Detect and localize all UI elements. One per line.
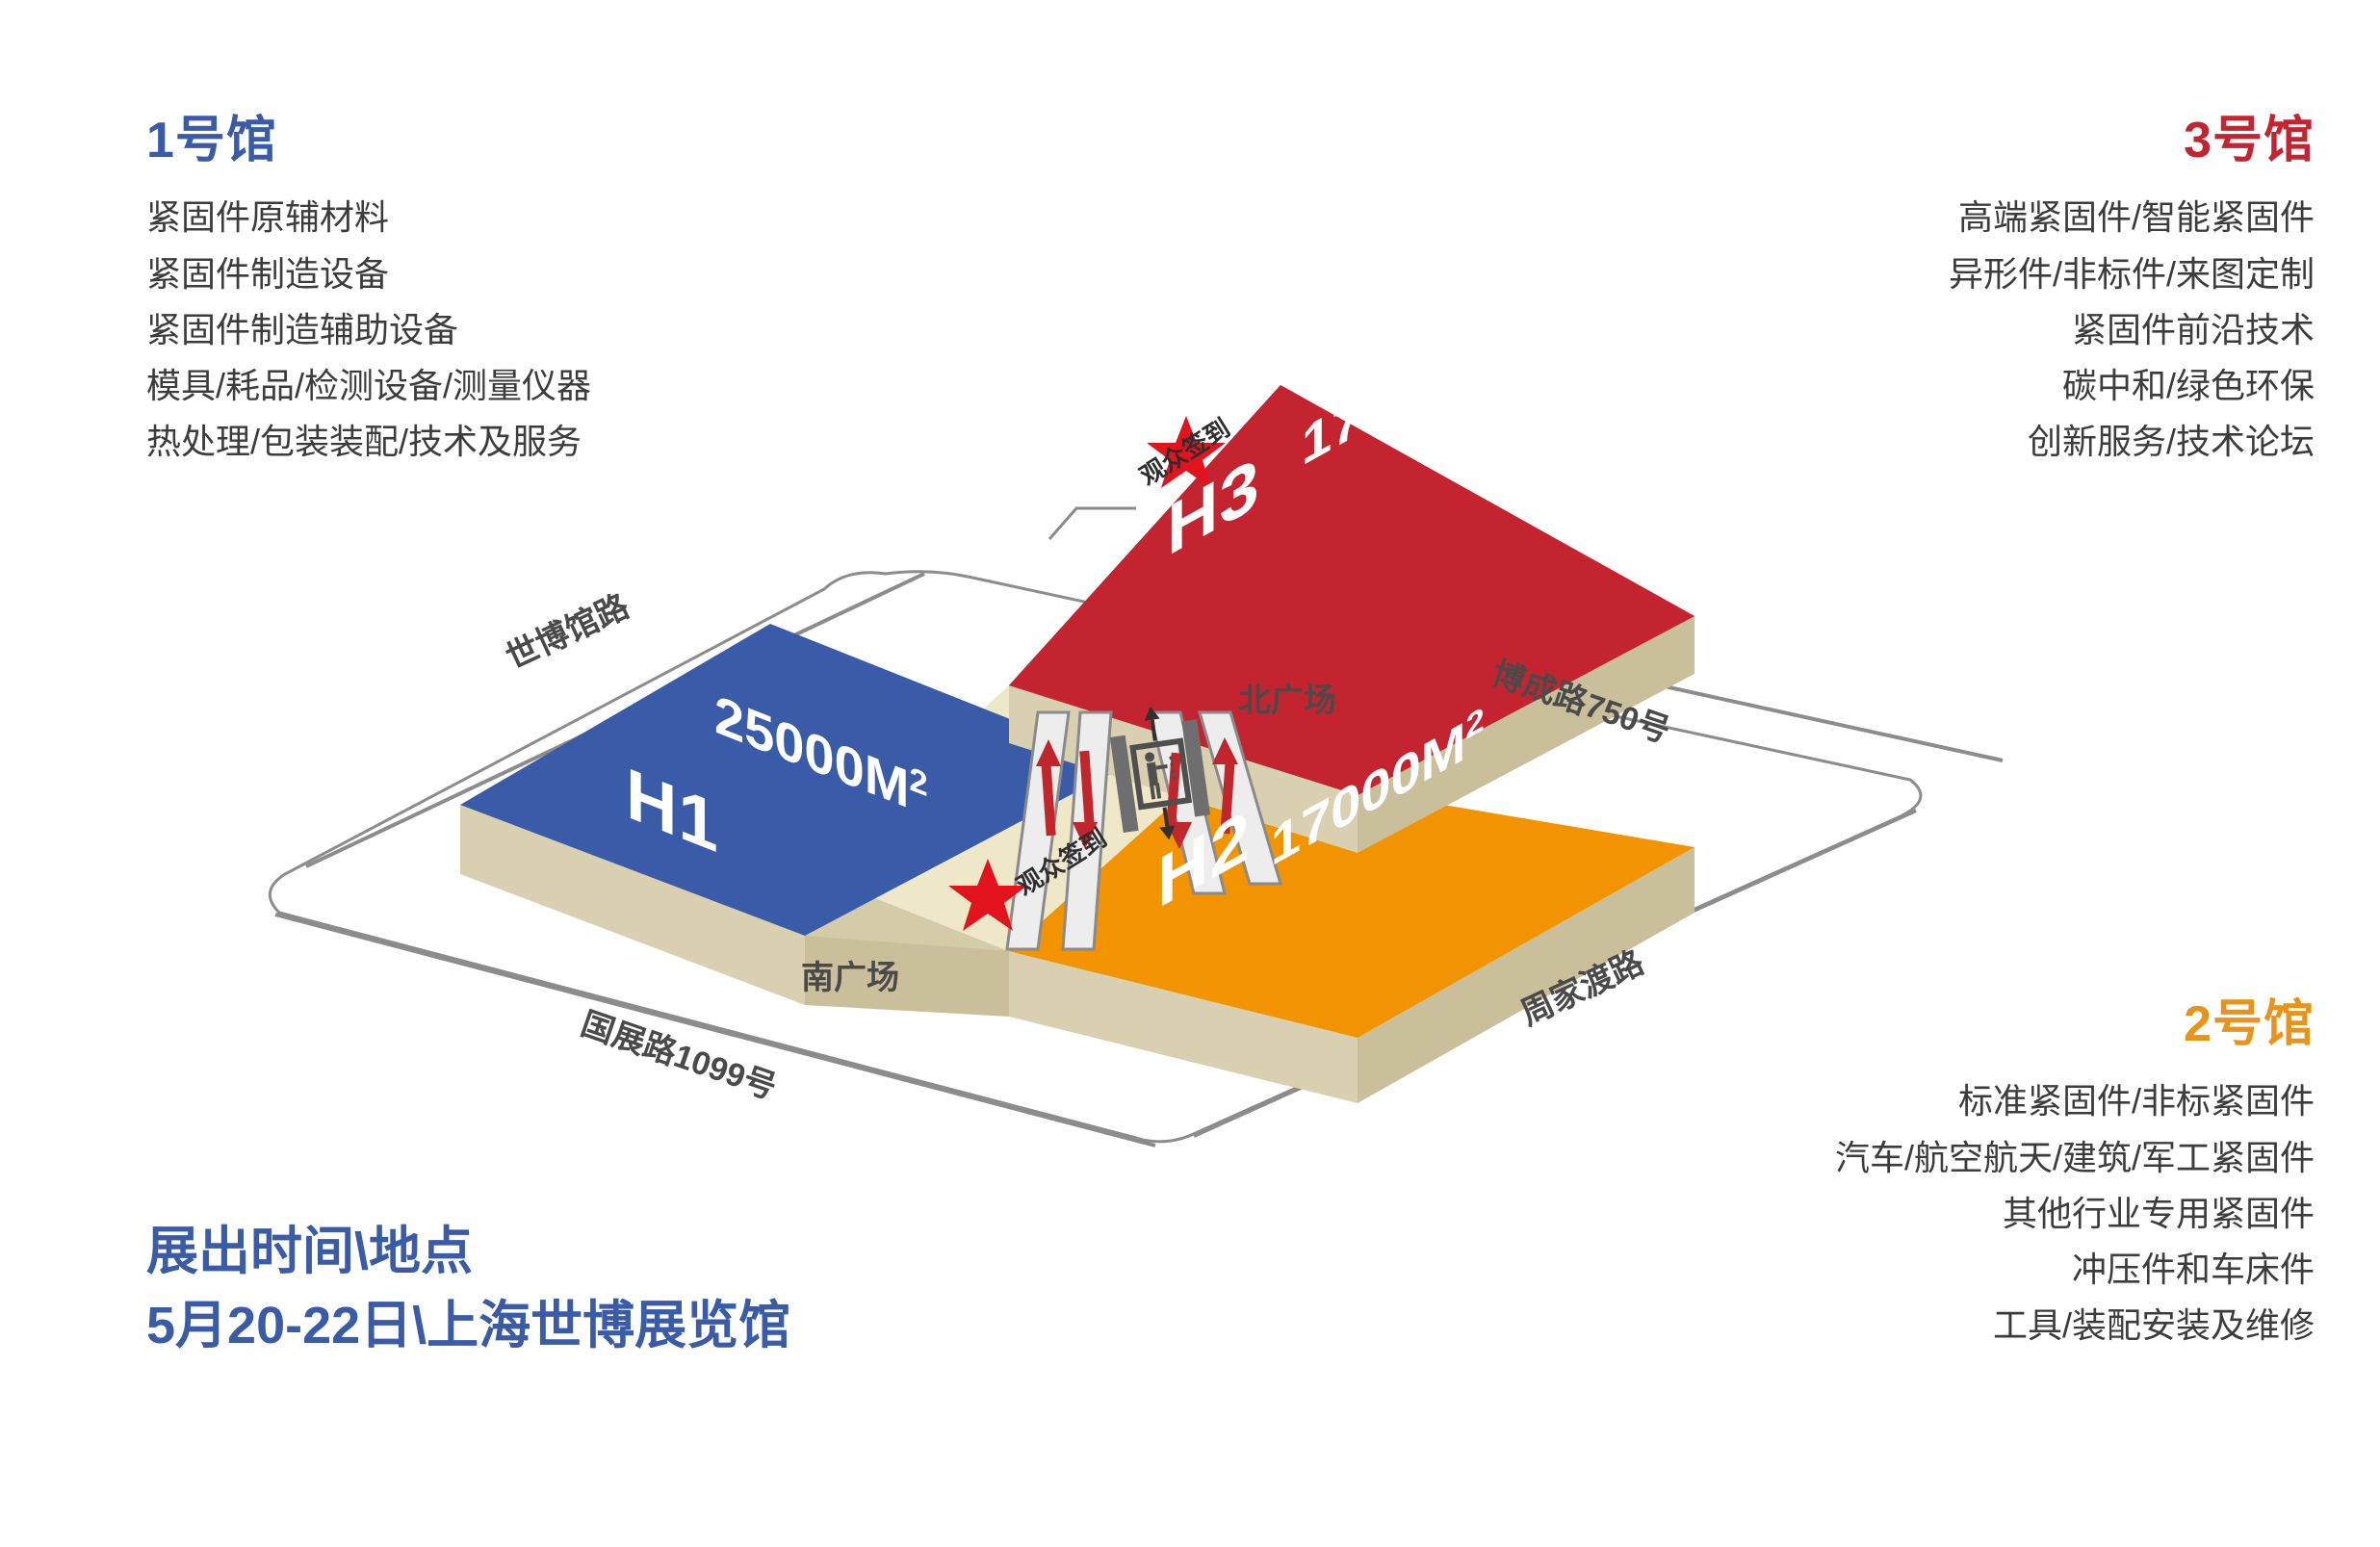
hall2-category-item: 其他行业专用紧固件 xyxy=(1835,1186,2315,1242)
hall2-category-list: 标准紧固件/非标紧固件 汽车/航空航天/建筑/军工紧固件 其他行业专用紧固件 冲… xyxy=(1835,1073,2315,1354)
hall1-category-item: 紧固件制造辅助设备 xyxy=(146,302,591,358)
hall1-category-item: 热处理/包装装配/技术及服务 xyxy=(146,414,591,470)
event-datetime-detail: 5月20-22日\上海世博展览馆 xyxy=(146,1289,790,1363)
hall2-title: 2号馆 xyxy=(1835,997,2315,1052)
hall1-category-item: 紧固件原辅材料 xyxy=(146,190,591,245)
event-datetime-block: 展出时间\地点 5月20-22日\上海世博展览馆 xyxy=(146,1215,790,1362)
hall3-category-item: 紧固件前沿技术 xyxy=(1949,302,2315,358)
hall3-category-list: 高端紧固件/智能紧固件 异形件/非标件/来图定制 紧固件前沿技术 碳中和/绿色环… xyxy=(1949,190,2315,471)
plaza-label-north: 北广场 xyxy=(1238,674,1336,721)
hall3-title: 3号馆 xyxy=(1949,114,2315,168)
hall2-category-item: 工具/装配安装及维修 xyxy=(1835,1298,2315,1354)
hall3-category-item: 创新服务/技术论坛 xyxy=(1949,414,2315,470)
hall1-category-list: 紧固件原辅材料 紧固件制造设备 紧固件制造辅助设备 模具/耗品/检测设备/测量仪… xyxy=(146,190,591,471)
hall2-category-item: 标准紧固件/非标紧固件 xyxy=(1835,1073,2315,1129)
hall1-category-item: 模具/耗品/检测设备/测量仪器 xyxy=(146,358,591,414)
hall2-category-item: 冲压件和车床件 xyxy=(1835,1242,2315,1298)
hall1-title: 1号馆 xyxy=(146,114,591,168)
event-datetime-heading: 展出时间\地点 xyxy=(146,1215,790,1289)
hall2-info-block: 2号馆 标准紧固件/非标紧固件 汽车/航空航天/建筑/军工紧固件 其他行业专用紧… xyxy=(1835,997,2315,1354)
hall3-info-block: 3号馆 高端紧固件/智能紧固件 异形件/非标件/来图定制 紧固件前沿技术 碳中和… xyxy=(1949,114,2315,471)
hall3-category-item: 碳中和/绿色环保 xyxy=(1949,358,2315,414)
hall3-category-item: 异形件/非标件/来图定制 xyxy=(1949,246,2315,302)
plaza-label-south: 南广场 xyxy=(801,951,899,998)
hall2-category-item: 汽车/航空航天/建筑/军工紧固件 xyxy=(1835,1130,2315,1186)
hall3-category-item: 高端紧固件/智能紧固件 xyxy=(1949,190,2315,245)
hall1-info-block: 1号馆 紧固件原辅材料 紧固件制造设备 紧固件制造辅助设备 模具/耗品/检测设备… xyxy=(146,114,591,471)
hall1-category-item: 紧固件制造设备 xyxy=(146,246,591,302)
